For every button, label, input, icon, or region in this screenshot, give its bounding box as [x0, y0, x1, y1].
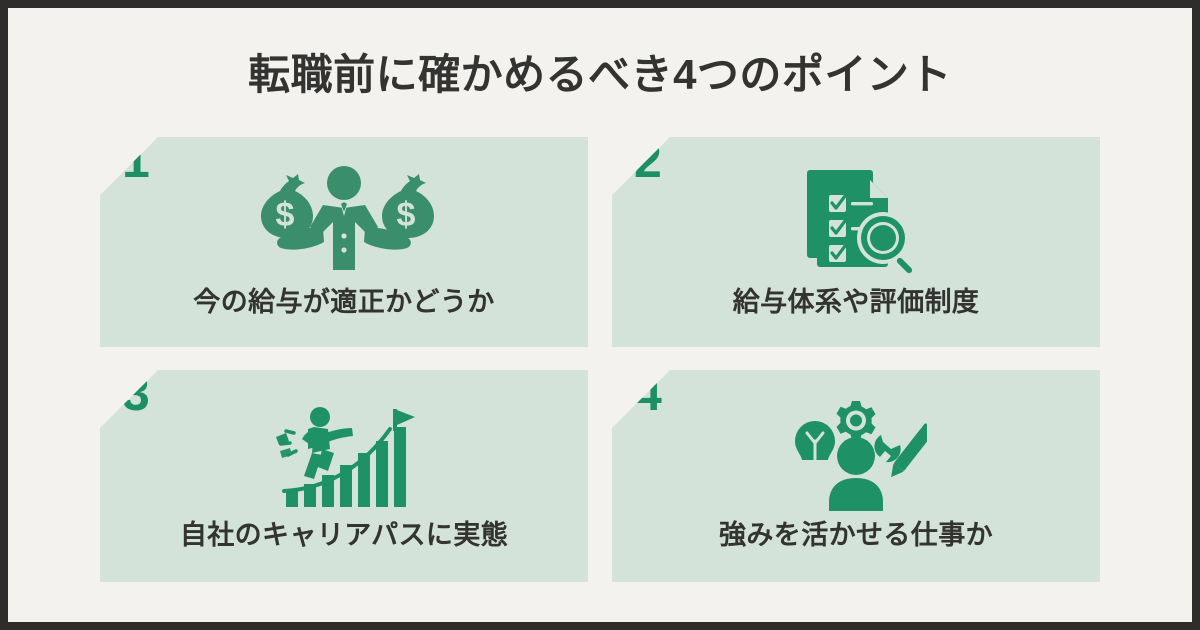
person-with-lightbulb-gear-tools-icon — [612, 400, 1100, 510]
checklist-with-magnifier-icon — [612, 165, 1100, 275]
businessman-with-money-bags-icon: $ $ — [100, 165, 588, 275]
card-label-4: 強みを活かせる仕事か — [612, 513, 1100, 552]
point-card-2[interactable]: 2 — [612, 137, 1100, 347]
infographic-canvas: 転職前に確かめるべき4つのポイント 1 $ $ — [8, 8, 1192, 622]
card-number-2: 2 — [634, 135, 662, 185]
point-card-1[interactable]: 1 $ $ — [100, 137, 588, 347]
card-label-3: 自社のキャリアパスに実態 — [100, 513, 588, 552]
person-climbing-growth-chart-icon — [100, 400, 588, 510]
page-title: 転職前に確かめるべき4つのポイント — [8, 52, 1192, 98]
card-number-3: 3 — [122, 368, 150, 418]
svg-text:$: $ — [397, 196, 416, 234]
point-card-4[interactable]: 4 — [612, 370, 1100, 582]
card-label-2: 給与体系や評価制度 — [612, 280, 1100, 319]
card-number-4: 4 — [634, 368, 662, 418]
card-label-1: 今の給与が適正かどうか — [100, 280, 588, 319]
svg-text:$: $ — [276, 196, 295, 234]
card-number-1: 1 — [122, 135, 150, 185]
point-card-3[interactable]: 3 — [100, 370, 588, 582]
point-card-grid: 1 $ $ — [100, 137, 1100, 587]
